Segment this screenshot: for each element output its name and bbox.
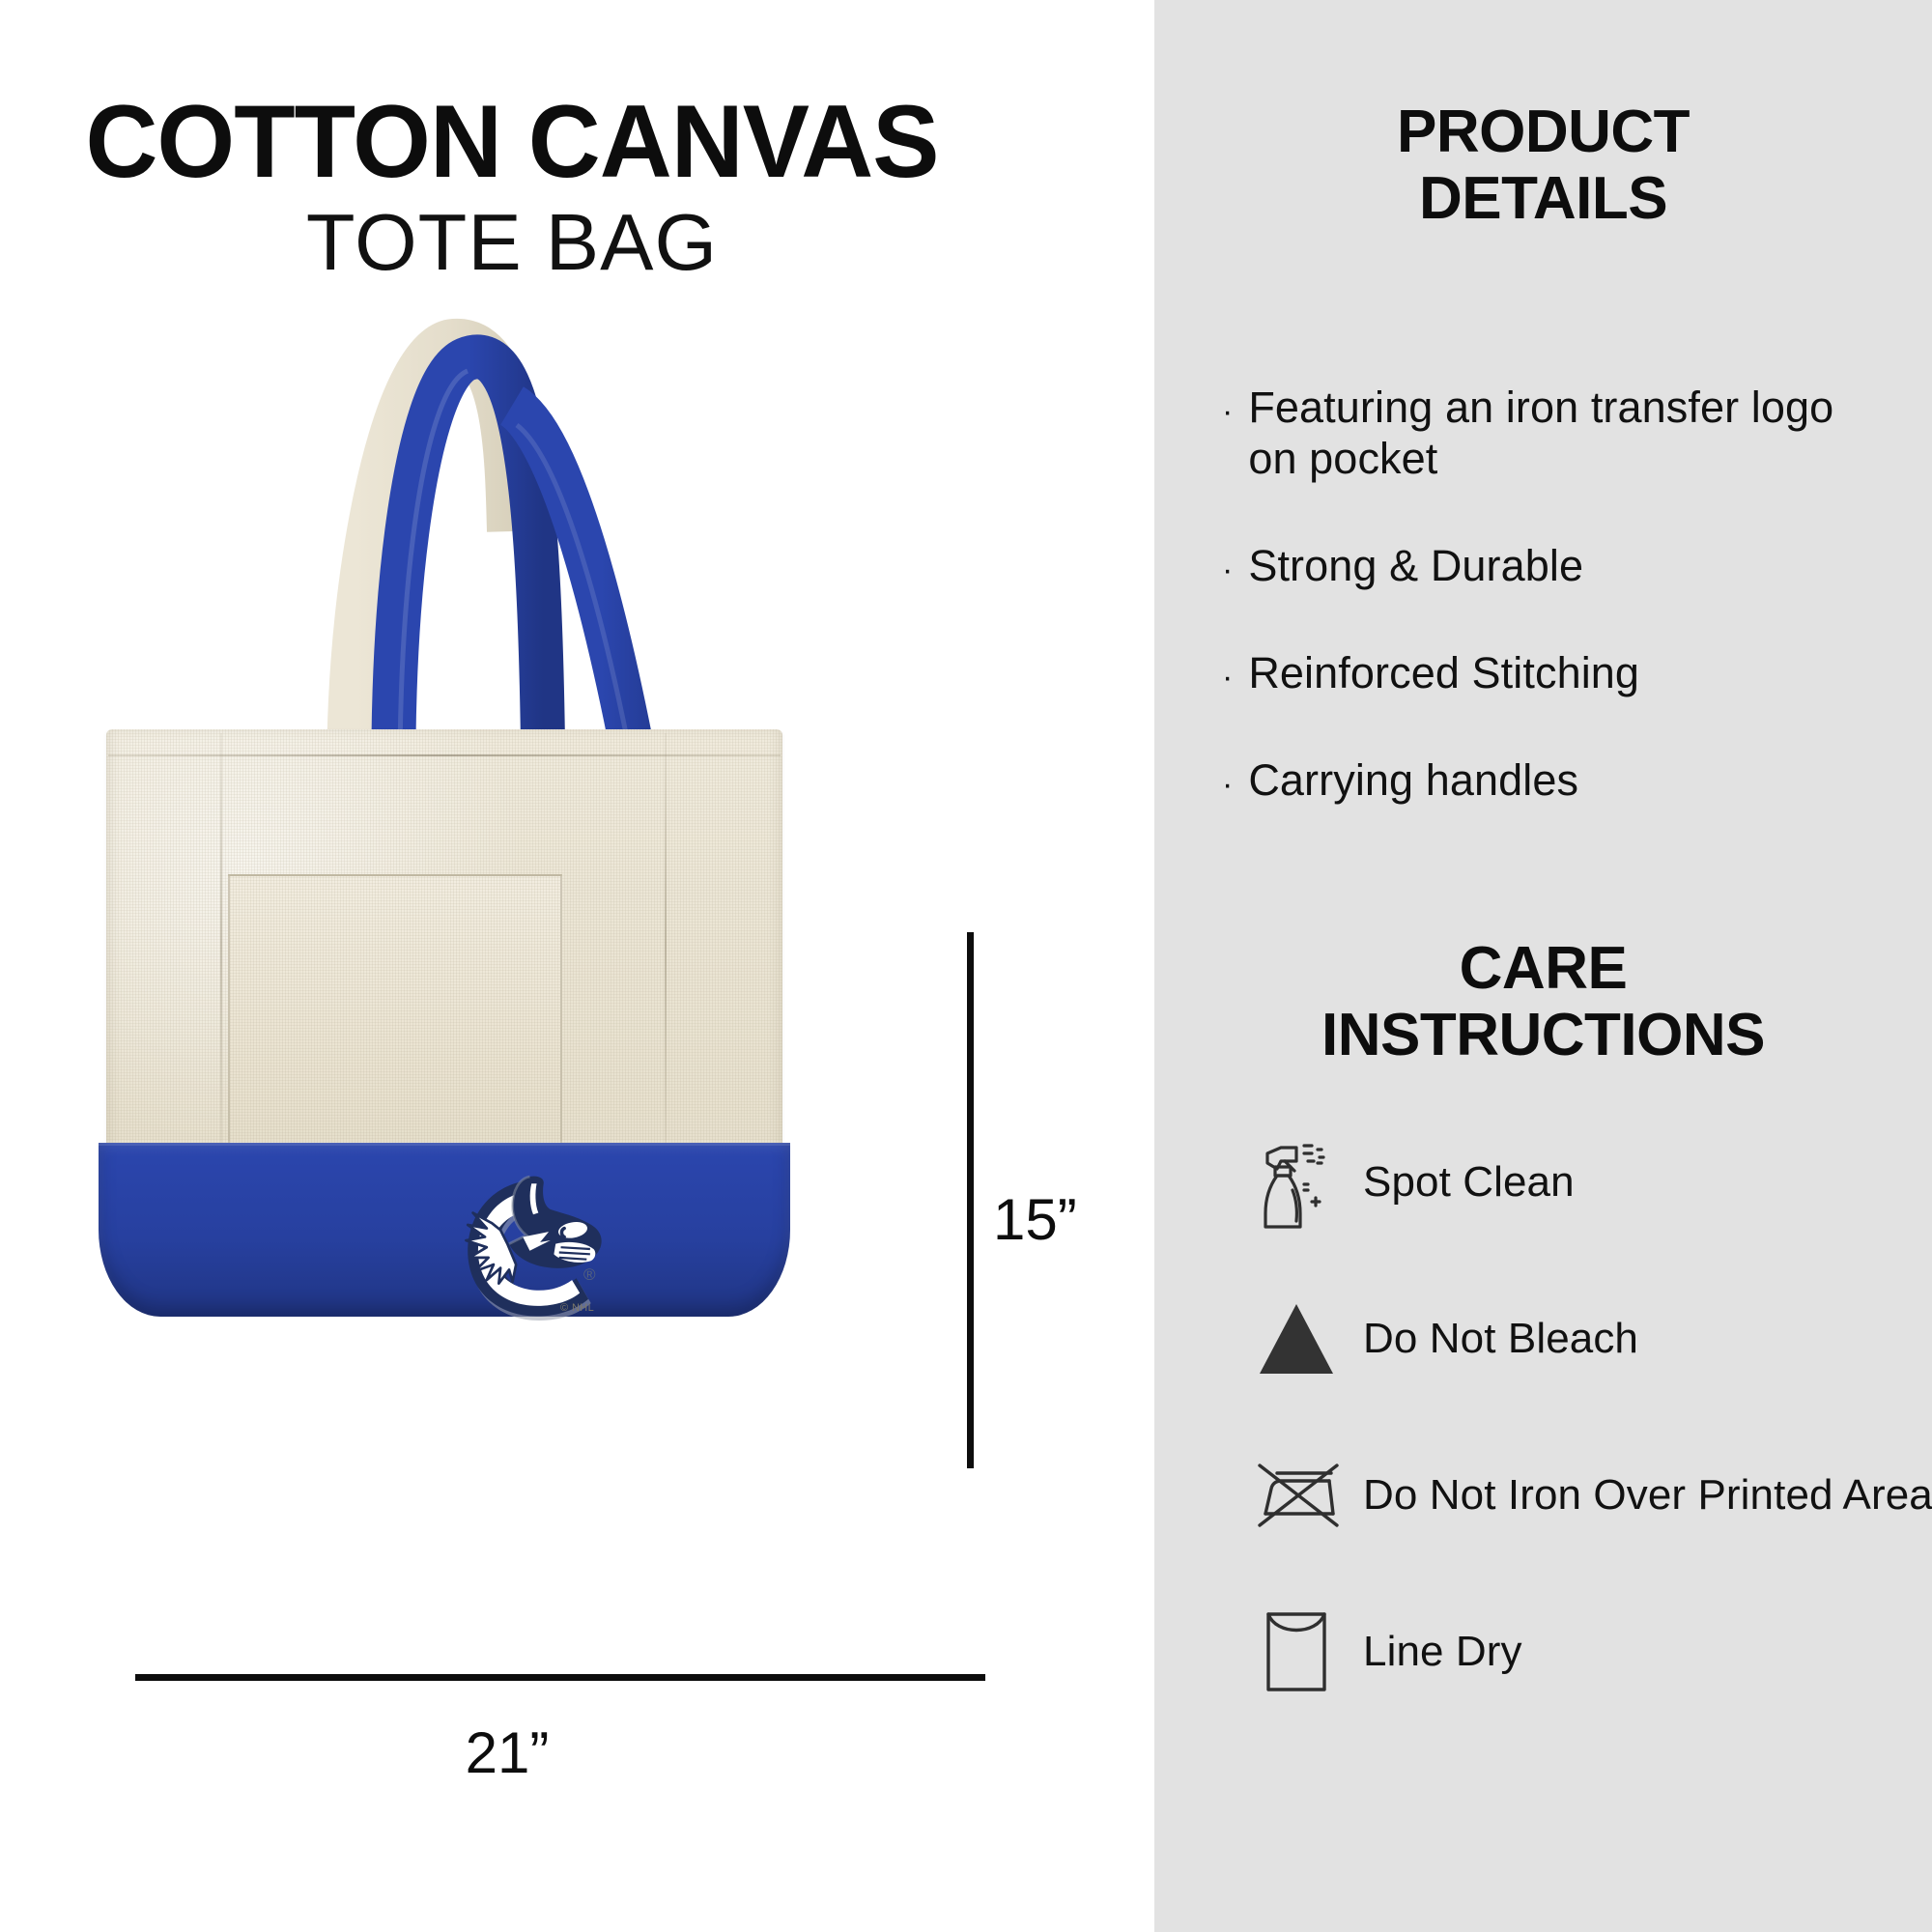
list-item-label: Carrying handles <box>1248 754 1578 806</box>
vancouver-canucks-orca-logo: ® © NHL <box>446 1161 620 1321</box>
list-item: · Featuring an iron transfer logo on poc… <box>1222 382 1918 484</box>
line-dry-icon <box>1230 1598 1363 1706</box>
product-details-heading: PRODUCT DETAILS <box>1154 99 1932 233</box>
list-item: Line Dry <box>1230 1598 1932 1706</box>
list-item: · Reinforced Stitching <box>1222 647 1918 698</box>
care-instructions-list: Spot Clean Do Not Bleach <box>1230 1128 1932 1754</box>
list-item-label: Do Not Bleach <box>1363 1314 1638 1363</box>
bag-top-hem <box>108 754 781 756</box>
height-dimension-line <box>967 932 974 1468</box>
care-instructions-heading-line2: INSTRUCTIONS <box>1154 1002 1932 1068</box>
registered-trademark-mark: ® <box>583 1265 596 1285</box>
bullet-dot-icon: · <box>1222 661 1233 694</box>
details-panel: PRODUCT DETAILS · Featuring an iron tran… <box>1154 0 1932 1932</box>
list-item-label: Line Dry <box>1363 1627 1522 1676</box>
nhl-copyright-mark: © NHL <box>560 1302 594 1314</box>
list-item: · Carrying handles <box>1222 754 1918 806</box>
care-instructions-heading: CARE INSTRUCTIONS <box>1154 935 1932 1069</box>
product-image-panel: COTTON CANVAS TOTE BAG <box>0 0 1154 1932</box>
title-subtitle: TOTE BAG <box>0 198 1024 288</box>
list-item: · Strong & Durable <box>1222 540 1918 591</box>
bag-front-pocket <box>228 874 562 1185</box>
list-item-label: Strong & Durable <box>1248 540 1583 591</box>
height-dimension-cap-top <box>967 932 974 939</box>
list-item: Do Not Bleach <box>1230 1285 1932 1393</box>
height-dimension-cap-bottom <box>967 1462 974 1468</box>
bullet-dot-icon: · <box>1222 395 1233 428</box>
bullet-dot-icon: · <box>1222 554 1233 586</box>
iron-crossed-out-icon <box>1230 1441 1363 1549</box>
page-title: COTTON CANVAS TOTE BAG <box>0 89 1024 288</box>
product-details-list: · Featuring an iron transfer logo on poc… <box>1222 382 1918 862</box>
bag-bottom-band <box>99 1143 790 1317</box>
list-item-label: Reinforced Stitching <box>1248 647 1639 698</box>
list-item-label: Do Not Iron Over Printed Area <box>1363 1470 1932 1520</box>
bag-body <box>106 729 782 1285</box>
list-item-label: Featuring an iron transfer logo on pocke… <box>1248 382 1866 484</box>
list-item: Spot Clean <box>1230 1128 1932 1236</box>
bag-seam-left <box>220 733 222 1158</box>
product-details-heading-line1: PRODUCT <box>1154 99 1932 165</box>
solid-triangle-no-bleach-icon <box>1230 1285 1363 1393</box>
orca-logo-svg <box>446 1161 620 1321</box>
list-item: Do Not Iron Over Printed Area <box>1230 1441 1932 1549</box>
product-details-heading-line2: DETAILS <box>1154 165 1932 232</box>
width-dimension-label: 21” <box>0 1719 1014 1786</box>
list-item-label: Spot Clean <box>1363 1157 1575 1207</box>
spray-bottle-icon <box>1230 1128 1363 1236</box>
bullet-dot-icon: · <box>1222 768 1233 801</box>
infographic-root: COTTON CANVAS TOTE BAG <box>0 0 1932 1932</box>
bag-seam-right <box>665 733 667 1158</box>
tote-bag-illustration: ® © NHL <box>106 290 879 1584</box>
care-instructions-heading-line1: CARE <box>1154 935 1932 1002</box>
width-dimension-line <box>135 1674 985 1681</box>
height-dimension-label: 15” <box>993 1186 1077 1253</box>
title-main: COTTON CANVAS <box>15 89 1009 194</box>
